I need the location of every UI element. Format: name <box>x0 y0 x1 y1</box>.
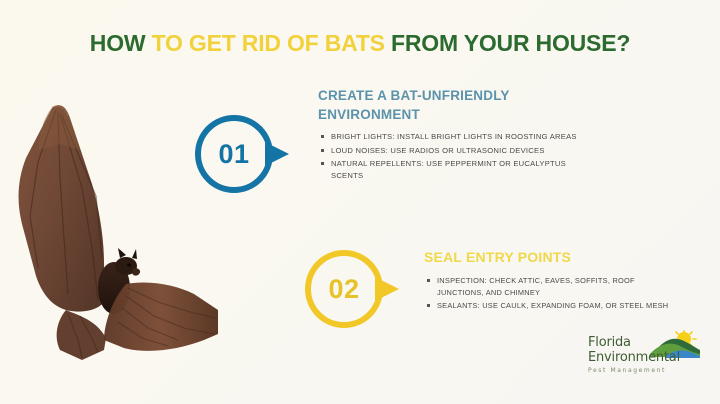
list-item: SEALANTS: USE CAULK, EXPANDING FOAM, OR … <box>424 300 676 312</box>
page-title-part-1: HOW <box>90 30 152 56</box>
step-2-heading: SEAL ENTRY POINTS <box>424 248 676 268</box>
step-1-heading: CREATE A BAT-UNFRIENDLY ENVIRONMENT <box>318 86 598 124</box>
logo-text: Florida Environmental Pest Management <box>588 336 704 374</box>
logo-tagline: Pest Management <box>588 367 704 374</box>
step-badge-02: 02 <box>303 247 399 331</box>
page-title-part-2: TO GET RID OF BATS <box>152 30 385 56</box>
list-item: INSPECTION: CHECK ATTIC, EAVES, SOFFITS,… <box>424 275 676 299</box>
page-title-part-3: FROM YOUR HOUSE? <box>385 30 630 56</box>
infographic-slide: HOW TO GET RID OF BATS FROM YOUR HOUSE? <box>0 0 720 404</box>
logo-line-environmental: Environmental <box>588 351 704 366</box>
step-badge-02-number: 02 <box>303 247 385 331</box>
step-badge-01-number: 01 <box>193 112 275 196</box>
company-logo: Florida Environmental Pest Management <box>588 330 704 384</box>
logo-line-florida: Florida <box>588 336 704 351</box>
step-1-bullet-list: BRIGHT LIGHTS: INSTALL BRIGHT LIGHTS IN … <box>318 131 598 182</box>
bat-image <box>8 88 218 388</box>
page-title: HOW TO GET RID OF BATS FROM YOUR HOUSE? <box>0 30 720 57</box>
step-2-bullet-list: INSPECTION: CHECK ATTIC, EAVES, SOFFITS,… <box>424 275 676 312</box>
list-item: NATURAL REPELLENTS: USE PEPPERMINT OR EU… <box>318 158 598 183</box>
step-1-content: CREATE A BAT-UNFRIENDLY ENVIRONMENT BRIG… <box>318 86 598 184</box>
step-badge-01: 01 <box>193 112 289 196</box>
list-item: LOUD NOISES: USE RADIOS OR ULTRASONIC DE… <box>318 145 598 157</box>
step-2-content: SEAL ENTRY POINTS INSPECTION: CHECK ATTI… <box>424 248 676 313</box>
list-item: BRIGHT LIGHTS: INSTALL BRIGHT LIGHTS IN … <box>318 131 598 143</box>
